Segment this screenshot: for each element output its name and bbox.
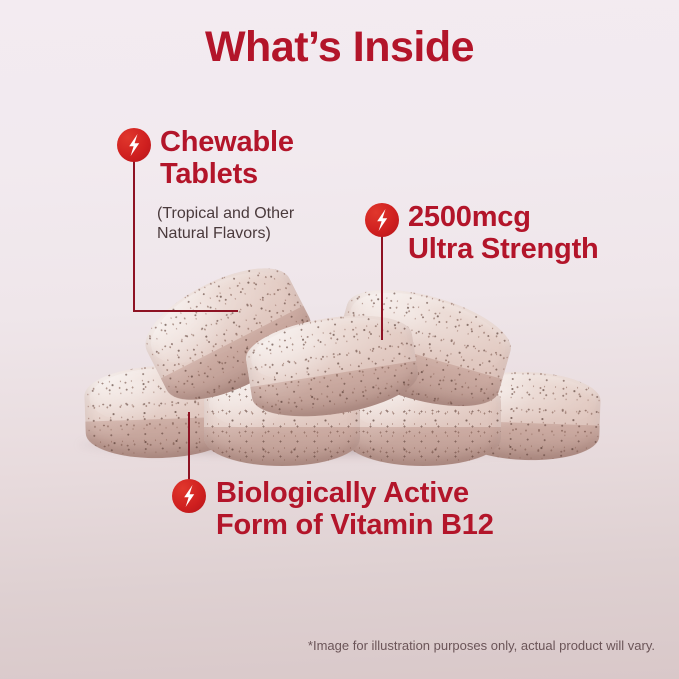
tablet-rim [250, 360, 422, 426]
tablet-rim [85, 417, 238, 461]
callout-leader-line-1 [133, 160, 135, 312]
tablet-front-left [204, 374, 360, 466]
tablet-rim [204, 427, 360, 466]
tablet-top-right [327, 275, 519, 422]
product-image-tablet-pile [0, 0, 679, 679]
tablet-pile-shadow [78, 432, 578, 458]
tablet-top-left [132, 250, 324, 419]
lightning-bolt-icon [117, 128, 151, 162]
tablet-face [137, 254, 301, 382]
tablet-rim [345, 427, 501, 466]
tablet-face [209, 376, 356, 433]
tablet-front-right [345, 374, 501, 466]
callout-headline: Biologically Active Form of Vitamin B12 [216, 477, 636, 542]
tablet-face [247, 308, 412, 391]
tablet-back-right [451, 369, 602, 462]
callout-leader-line-2 [381, 232, 383, 340]
tablet-rim [327, 333, 502, 422]
lightning-bolt-icon [172, 479, 206, 513]
tablet-face [456, 371, 597, 430]
tablet-face [88, 365, 233, 427]
tablet-top-middle [242, 305, 423, 426]
page-title: What’s Inside [0, 24, 679, 71]
tablet-rim [161, 305, 324, 418]
callout-headline: 2500mcg Ultra Strength [408, 201, 678, 266]
callout-headline: Chewable Tablets [160, 126, 420, 191]
tablet-back-left [83, 363, 238, 460]
tablet-rim [451, 420, 600, 462]
tablet-face [350, 376, 497, 433]
product-infographic: What’s Inside [0, 0, 679, 679]
callout-leader-line-1-elbow [133, 310, 238, 312]
lightning-bolt-icon [365, 203, 399, 237]
disclaimer-text: *Image for illustration purposes only, a… [308, 638, 655, 653]
tablet-face [342, 278, 513, 384]
